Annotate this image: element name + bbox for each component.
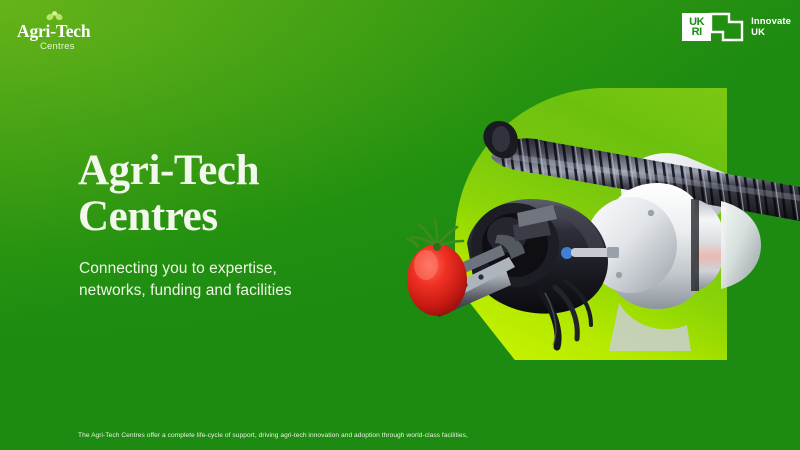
page-subtitle: Connecting you to expertise, networks, f… [79, 258, 292, 302]
footer-note: The Agri-Tech Centres offer a complete l… [78, 432, 768, 441]
tomato [405, 221, 467, 316]
slide-canvas: Agri-Tech Centres UK RI Innovate UK Agri… [0, 0, 800, 450]
ukri-badge: UK RI [682, 13, 711, 41]
robot-arm-illustration [395, 95, 800, 365]
innovate-uk-line1: Innovate [751, 16, 791, 27]
brand-wordmark: Agri-Tech [17, 21, 90, 42]
ukri-outline-icon [709, 11, 744, 43]
agri-tech-centres-logo[interactable]: Agri-Tech Centres [9, 11, 129, 59]
innovate-uk-line2: UK [751, 27, 791, 38]
ukri-innovate-uk-logo[interactable]: UK RI Innovate UK [682, 10, 791, 44]
page-title: Agri-Tech Centres [78, 148, 259, 240]
innovate-uk-label: Innovate UK [751, 16, 791, 38]
ukri-mark: UK RI [682, 11, 744, 43]
ukri-line2: RI [692, 27, 702, 37]
brand-subtitle: Centres [40, 41, 75, 52]
cobot-joint-housing [585, 183, 761, 351]
